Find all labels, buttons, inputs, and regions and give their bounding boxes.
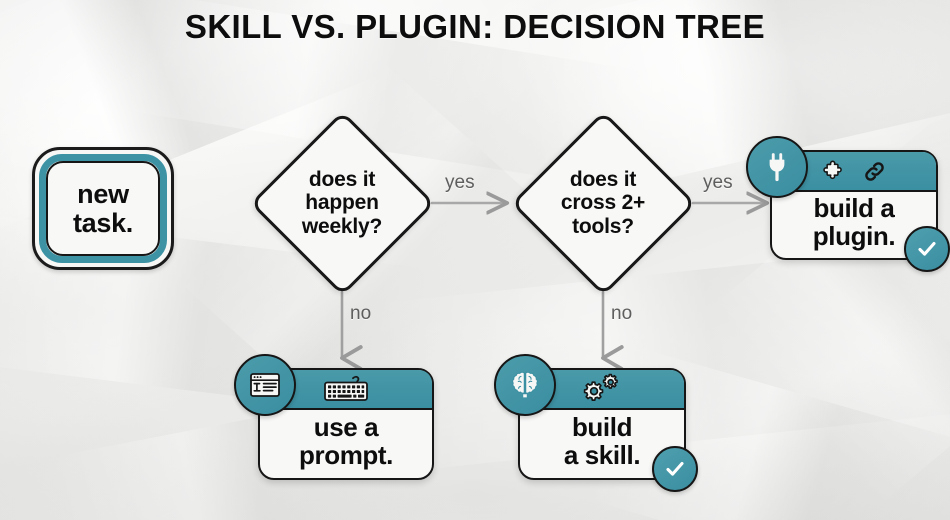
brain-icon bbox=[509, 369, 541, 401]
decision-tree-canvas: SKILL VS. PLUGIN: DECISION TREE yes bbox=[0, 0, 950, 520]
decision-does-it-happen-weekly[interactable]: does it happen weekly? bbox=[249, 110, 435, 296]
edge-label-weekly-no: no bbox=[350, 303, 371, 325]
gears-icon bbox=[581, 373, 623, 405]
edge-label-weekly-yes: yes bbox=[445, 172, 475, 194]
outcome-prompt-label: use a prompt. bbox=[260, 408, 432, 478]
browser-window-icon-badge bbox=[234, 354, 296, 416]
puzzle-piece-icon bbox=[821, 159, 846, 184]
brain-icon-badge bbox=[494, 354, 556, 416]
plug-icon bbox=[762, 152, 792, 182]
decision-tools-label: does it cross 2+ tools? bbox=[510, 110, 696, 296]
decision-does-it-cross-2-tools[interactable]: does it cross 2+ tools? bbox=[510, 110, 696, 296]
check-badge bbox=[904, 226, 950, 272]
browser-window-icon bbox=[249, 371, 281, 399]
link-chain-icon bbox=[862, 159, 887, 184]
checkmark-icon bbox=[915, 237, 939, 261]
page-title: SKILL VS. PLUGIN: DECISION TREE bbox=[0, 8, 950, 46]
outcome-build-a-skill[interactable]: build a skill. bbox=[518, 368, 686, 480]
plug-icon-badge bbox=[746, 136, 808, 198]
outcome-use-a-prompt[interactable]: use a prompt. bbox=[258, 368, 434, 480]
edge-label-tools-no: no bbox=[611, 303, 632, 325]
edge-label-tools-yes: yes bbox=[703, 172, 733, 194]
keyboard-icon bbox=[323, 375, 369, 403]
checkmark-icon bbox=[663, 457, 687, 481]
check-badge bbox=[652, 446, 698, 492]
node-new-task-label: new task. bbox=[46, 161, 160, 256]
outcome-build-a-plugin[interactable]: build a plugin. bbox=[770, 150, 938, 260]
decision-weekly-label: does it happen weekly? bbox=[249, 110, 435, 296]
node-new-task[interactable]: new task. bbox=[32, 147, 174, 270]
